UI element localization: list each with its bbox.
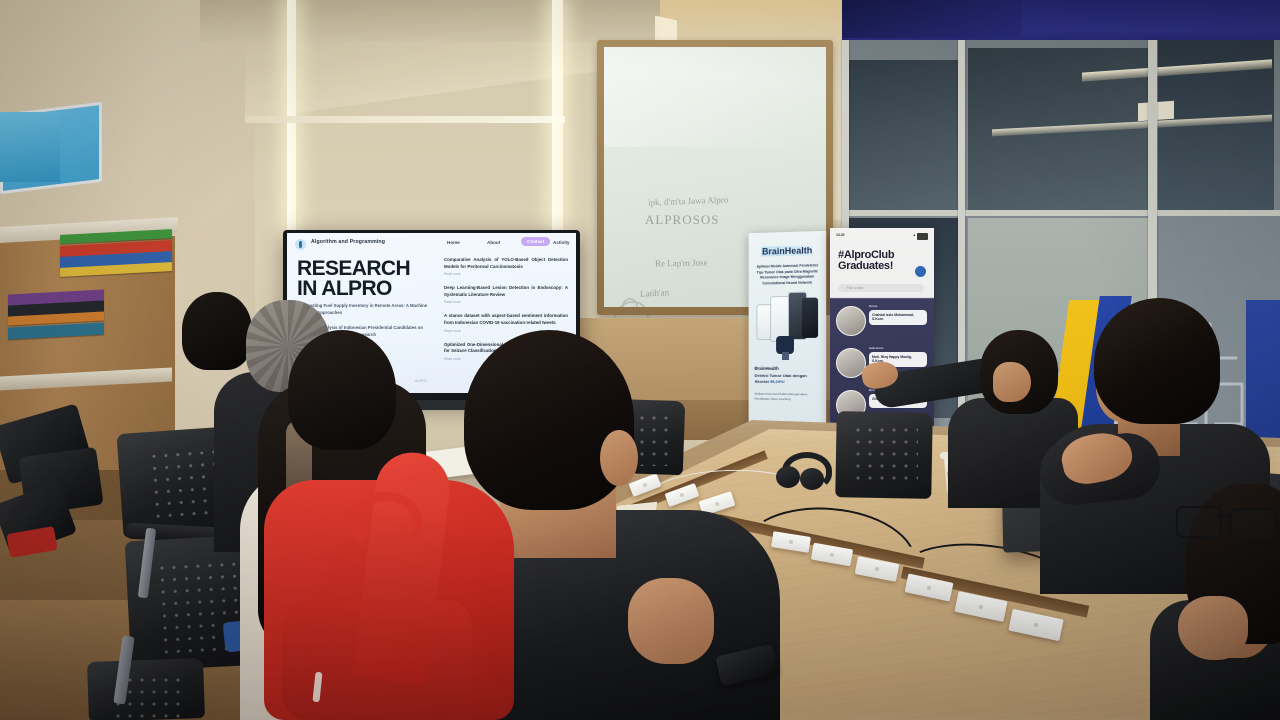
robot-body	[782, 352, 789, 360]
blue-whiteboard-face	[0, 112, 60, 182]
blue-soffit-shadow	[842, 0, 1022, 38]
audience-person-far-head	[182, 292, 252, 370]
whiteboard-glare	[604, 47, 826, 147]
whiteboard-text-2: ALPROSOS	[645, 212, 719, 228]
phone-mockup-4	[802, 298, 818, 338]
graduate-row: KetuaChalvial Izzio Muhammad, S.Kom.	[836, 304, 930, 338]
publication-title: A stance dataset with aspect-based senti…	[444, 313, 568, 326]
banner-alproclub-title: #AlproClub Graduates!	[838, 250, 894, 273]
backpack-handle-loop	[350, 492, 422, 552]
wifi-icon: ▲	[913, 233, 916, 237]
glasses-lens-left	[1176, 506, 1222, 538]
audience-red-backpack-head	[464, 330, 634, 510]
publication-item[interactable]: Deep Learning-Based Lesion Detection in …	[444, 285, 568, 304]
glass-pane-upper-left	[848, 60, 958, 210]
chair-5-perforation	[852, 424, 918, 486]
publication-meta: Read more	[444, 272, 568, 276]
banner-brainhealth-claim-sub: Aplikasi Automasi Praktis Menggunakan Pe…	[754, 392, 820, 402]
page-title-line1: RESEARCH	[297, 259, 410, 279]
audience-red-backpack-hand	[628, 578, 714, 664]
screen-footer: ALPRO	[415, 379, 427, 383]
eyeglasses-icon	[1176, 504, 1280, 538]
graduate-name: Chalvial Izzio Muhammad, S.Kom.	[872, 313, 924, 323]
graduate-role: Sekretaris	[869, 346, 884, 350]
page-title: RESEARCH IN ALPRO	[297, 259, 410, 298]
banner-brainhealth-claim: Deteksi Tumor Otak dengan Akurasi 99,24%…	[754, 373, 820, 385]
cove-light-horizontal	[245, 116, 565, 123]
publication-title: Comparative Analysis of YOLO-Based Objec…	[444, 257, 568, 270]
book-stack	[4, 196, 172, 372]
nav-home[interactable]: Home	[447, 240, 460, 245]
whiteboard-text-3: Re Lap'm Jose	[655, 258, 708, 269]
alproclub-logo-icon	[915, 266, 926, 277]
graduate-name-bubble: Chalvial Izzio Muhammad, S.Kom.	[869, 310, 927, 325]
participant-glasses-hand	[1178, 596, 1248, 660]
nav-about[interactable]: About	[487, 240, 500, 245]
nav-activity[interactable]: Activity	[553, 240, 570, 245]
headphone-cup-right	[800, 468, 824, 490]
publication-meta: Read more	[444, 300, 568, 304]
nav-contact[interactable]: Contact	[521, 237, 550, 246]
glasses-bridge	[1216, 514, 1230, 517]
publication-title: Deep Learning-Based Lesion Detection in …	[444, 285, 568, 298]
publication-item[interactable]: Comparative Analysis of YOLO-Based Objec…	[444, 257, 568, 276]
battery-icon	[917, 233, 928, 240]
mullion-horizontal	[842, 210, 1280, 216]
participant-black-shirt-hair	[1094, 298, 1220, 424]
banner-brainhealth-subtitle: Aplikasi Mobile Automasi Pendeteksi Tipe…	[755, 263, 819, 287]
participant-pointing-face	[993, 362, 1031, 402]
ceiling-soffit	[200, 0, 670, 42]
search-placeholder: Find a team	[847, 286, 864, 290]
audience-long-hair-head	[288, 330, 396, 450]
banner-brainhealth-title: BrainHealth	[749, 245, 827, 257]
search-input[interactable]: Find a team	[838, 284, 924, 292]
mullion-v1	[958, 40, 965, 460]
graduate-role: Ketua	[869, 304, 877, 308]
alpro-logo-icon	[295, 239, 306, 250]
avatar	[836, 306, 866, 336]
banner-brainhealth-artwork	[756, 292, 818, 361]
audience-red-backpack-ear	[600, 430, 638, 486]
glasses-lens-right	[1230, 508, 1276, 540]
seminar-room-photo: Algorithm Research, Lab. Ruang 3 Fasilko…	[0, 0, 1280, 720]
banner-brainhealth-title-text: BrainHealth	[761, 245, 813, 256]
status-time: 13.30	[836, 233, 845, 237]
banner-brainhealth-claim-title: BrainHealth	[754, 366, 820, 371]
banner-claim-accuracy: 99,24%!	[770, 379, 785, 384]
headphone-cup-left	[776, 466, 800, 488]
site-brand: Algorithm and Programming	[311, 239, 385, 245]
site-navbar: Algorithm and Programming Home About Con…	[295, 238, 568, 254]
banner-status-bar: 13.30 ▲	[836, 233, 928, 241]
book	[8, 322, 104, 339]
banner-title-line2: Graduates!	[838, 261, 894, 272]
page-title-line2: IN ALPRO	[297, 279, 410, 299]
headphones[interactable]	[776, 452, 826, 492]
